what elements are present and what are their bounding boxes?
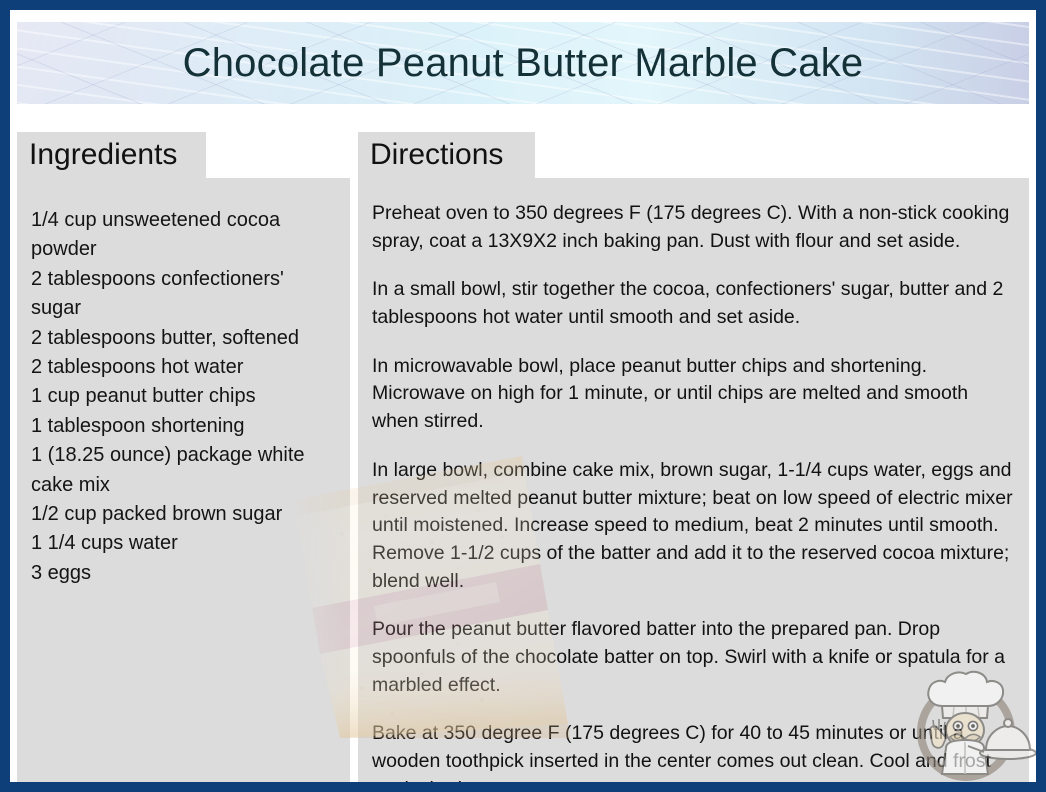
ingredients-panel: 1/4 cup unsweetened cocoa powder 2 table… <box>17 178 350 782</box>
direction-step: In large bowl, combine cake mix, brown s… <box>372 457 1013 595</box>
ingredients-heading: Ingredients <box>17 132 206 178</box>
directions-panel: Preheat oven to 350 degrees F (175 degre… <box>358 178 1029 782</box>
direction-step: Preheat oven to 350 degrees F (175 degre… <box>372 200 1013 255</box>
direction-step: In a small bowl, stir together the cocoa… <box>372 276 1013 331</box>
direction-step: Pour the peanut butter flavored batter i… <box>372 616 1013 699</box>
title-banner: Chocolate Peanut Butter Marble Cake <box>17 22 1029 104</box>
ingredients-list: 1/4 cup unsweetened cocoa powder 2 table… <box>31 206 336 588</box>
recipe-title: Chocolate Peanut Butter Marble Cake <box>17 42 1029 84</box>
direction-step: Bake at 350 degree F (175 degrees C) for… <box>372 720 1013 782</box>
direction-step: In microwavable bowl, place peanut butte… <box>372 353 1013 436</box>
recipe-card: Chocolate Peanut Butter Marble Cake Ingr… <box>0 0 1046 792</box>
directions-heading: Directions <box>358 132 535 178</box>
directions-steps: Preheat oven to 350 degrees F (175 degre… <box>372 200 1013 782</box>
